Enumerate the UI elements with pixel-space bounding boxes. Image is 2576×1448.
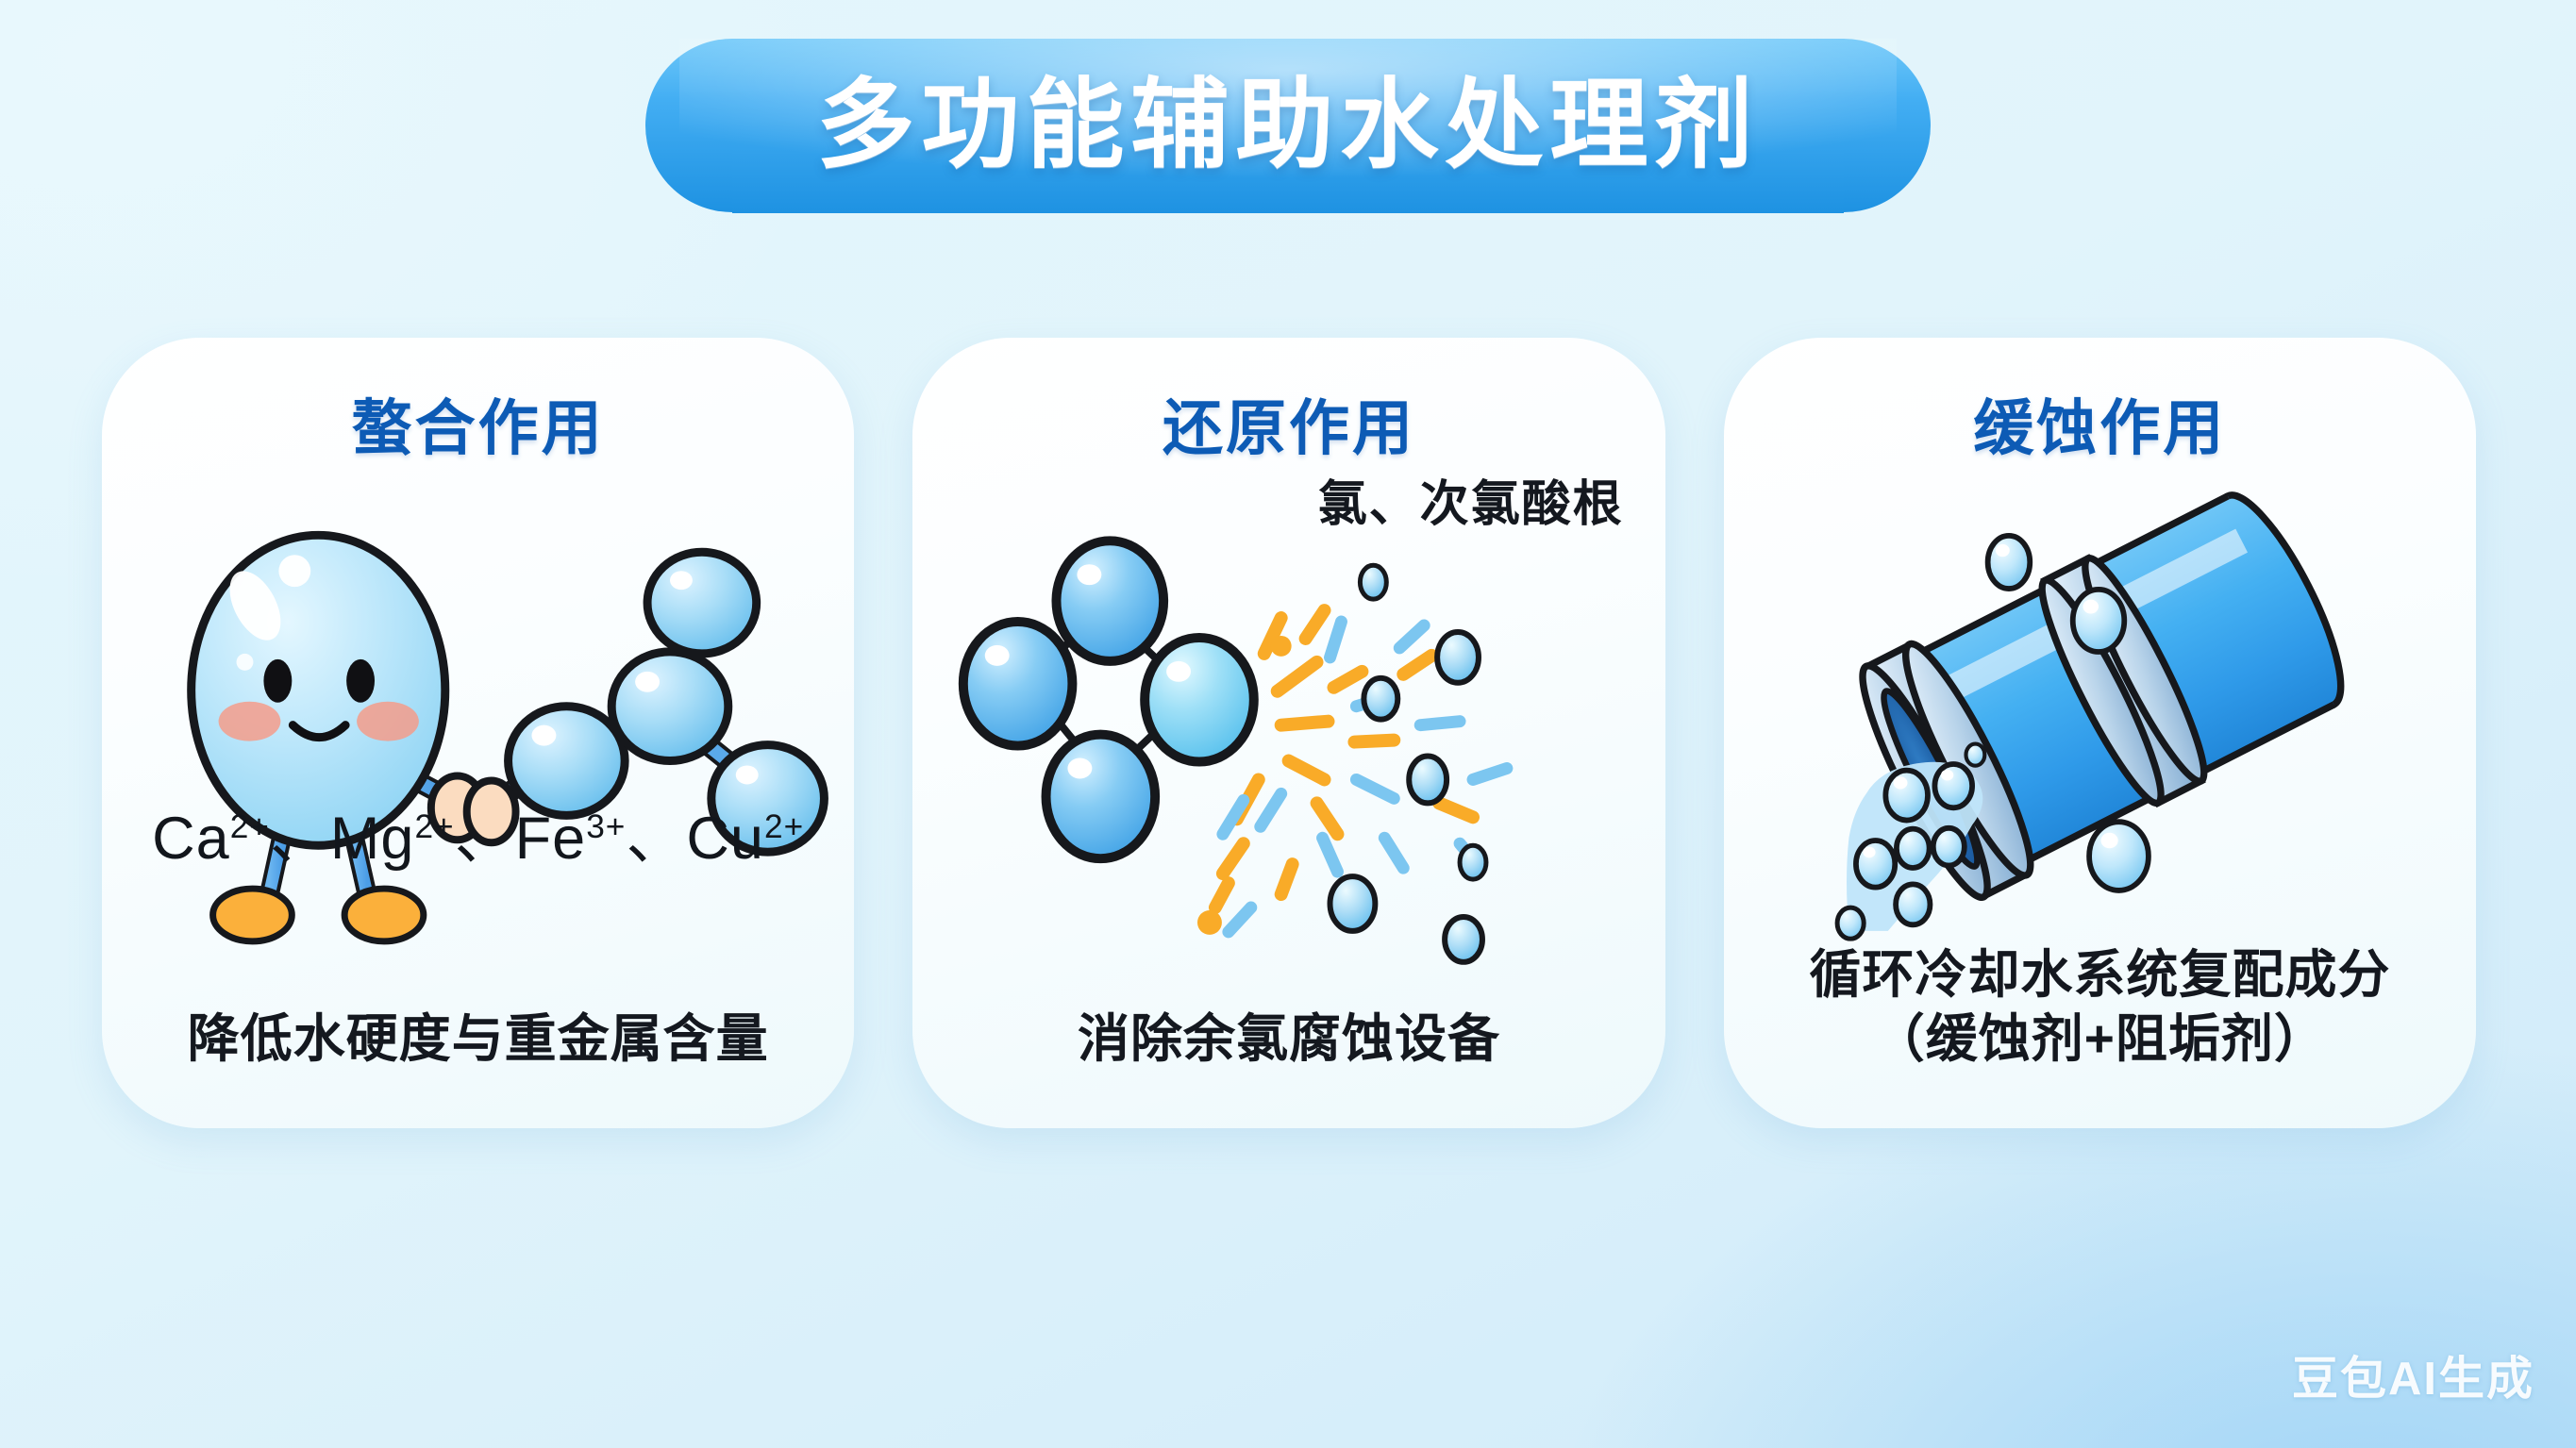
illustration-pipe-water [1724, 458, 2476, 942]
ion-list: Ca2+、Mg2+、Fe3+、Cu2+ [102, 791, 854, 876]
ion-fe: Fe3+ [515, 806, 627, 872]
cards-row: 螯合作用 [102, 338, 2476, 1128]
card-caption: 降低水硬度与重金属含量 [102, 1007, 854, 1128]
card-corrosion-inhibition[interactable]: 缓蚀作用 [1724, 338, 2476, 1128]
ion-separator: 、 [455, 806, 515, 872]
card-chelation[interactable]: 螯合作用 [102, 338, 854, 1128]
title-banner: 多功能辅助水处理剂 [642, 39, 1934, 213]
watermark: 豆包AI生成 [2292, 1341, 2534, 1408]
card-caption-line2: （缓蚀剂+阻垢剂） [1752, 1007, 2448, 1072]
card-caption-line1: 消除余氯腐蚀设备 [1078, 1009, 1500, 1068]
card-title: 螯合作用 [352, 398, 605, 458]
title-banner-wrap: 多功能辅助水处理剂 [0, 36, 2576, 215]
ion-separator: 、 [626, 806, 686, 872]
illustration-water-droplet-character: Ca2+、Mg2+、Fe3+、Cu2+ [102, 458, 854, 1007]
card-caption-line1: 降低水硬度与重金属含量 [188, 1009, 769, 1068]
card-caption: 循环冷却水系统复配成分 （缓蚀剂+阻垢剂） [1724, 942, 2476, 1129]
ion-separator: 、 [270, 806, 330, 872]
ion-ca: Ca2+ [152, 806, 270, 872]
droplet-molecule-svg [102, 458, 854, 1007]
card-caption: 消除余氯腐蚀设备 [912, 1007, 1664, 1128]
ion-cu: Cu2+ [686, 806, 804, 872]
card-caption-line1: 循环冷却水系统复配成分 [1809, 945, 2390, 1004]
card-reduction[interactable]: 还原作用 氯、次氯酸根 [912, 338, 1664, 1128]
pipe-svg [1724, 458, 2476, 942]
page-title: 多功能辅助水处理剂 [816, 76, 1759, 175]
card-title: 还原作用 [1163, 398, 1415, 458]
illustration-molecule-burst: 氯、次氯酸根 [912, 458, 1664, 1007]
ion-mg: Mg2+ [330, 806, 455, 872]
card-title: 缓蚀作用 [1973, 398, 2226, 458]
molecule-burst-svg [912, 458, 1664, 1007]
